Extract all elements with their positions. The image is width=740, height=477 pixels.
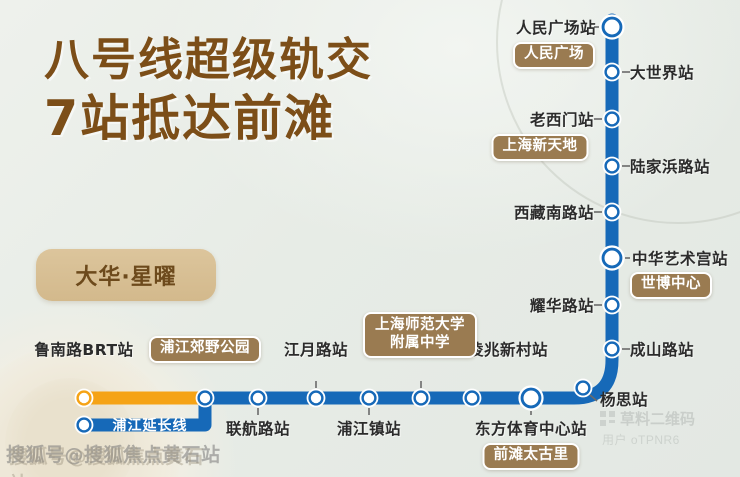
station-label: 东方体育中心站 <box>475 417 587 439</box>
station-label: 耀华路站 <box>530 294 594 316</box>
station-label: 成山路站 <box>630 338 694 360</box>
station-dot-inner <box>578 383 588 393</box>
watermark-qr-block: 草料二维码 用户 oTPNR6 <box>600 408 695 448</box>
station-dot-inner <box>607 67 617 77</box>
station-label: 中华艺术宫站 <box>632 247 728 269</box>
poi-badge: 浦江郊野公园 <box>149 336 261 363</box>
poi-badge-line: 附属中学 <box>375 335 465 353</box>
station-dot-inner <box>416 393 426 403</box>
watermark-sohu-ghost: 搜狐号@搜狐焦点黄石站 <box>9 442 221 477</box>
poi-badge: 人民广场 <box>513 42 595 69</box>
poi-badge: 世博中心 <box>630 272 712 299</box>
station-dot-inner <box>607 161 617 171</box>
branch-line-tag: 浦江延长线 <box>113 415 188 435</box>
poi-badge-line: 世博中心 <box>641 276 701 294</box>
station-label: 大世界站 <box>630 61 694 83</box>
station-dot-inner <box>79 420 89 430</box>
station-label: 江月路站 <box>284 338 348 360</box>
station-dot-inner <box>79 393 89 403</box>
station-label: 老西门站 <box>530 108 594 130</box>
station-label: 凌兆新村站 <box>468 338 548 360</box>
poi-badge: 前滩太古里 <box>483 443 580 470</box>
watermark-qr-sub: 用户 oTPNR6 <box>602 431 695 448</box>
station-label: 鲁南路BRT站 <box>34 338 133 360</box>
station-dot-inner <box>253 393 263 403</box>
poi-badge-line: 人民广场 <box>524 46 584 64</box>
station-dot-inner <box>524 391 539 406</box>
poi-badge-line: 上海新天地 <box>503 138 578 156</box>
watermark-sohu: 搜狐号@搜狐焦点黄石站 搜狐号@搜狐焦点黄石站 <box>6 440 221 467</box>
station-label: 人民广场站 <box>516 16 596 38</box>
poi-badge: 上海新天地 <box>492 134 589 161</box>
station-dot-inner <box>605 251 620 266</box>
station-dot-inner <box>364 393 374 403</box>
station-label: 杨思站 <box>600 388 648 410</box>
station-label: 联航路站 <box>226 417 290 439</box>
station-dot-inner <box>607 300 617 310</box>
poi-badge-line: 浦江郊野公园 <box>160 340 250 358</box>
station-dot-inner <box>607 114 617 124</box>
station-dot-inner <box>607 207 617 217</box>
headline-block: 八号线超级轨交 7站抵达前滩 <box>44 36 373 146</box>
qr-code-icon <box>600 411 615 426</box>
poi-badge-line: 上海师范大学 <box>375 317 465 335</box>
watermark-qr-title: 草料二维码 <box>620 408 695 429</box>
metro-line-poster: 八号线超级轨交 7站抵达前滩 大华·星曜 人民广场站大世界站老西门站陆家浜路站西… <box>0 0 740 477</box>
station-dot-inner <box>311 393 321 403</box>
headline-line-2: 7站抵达前滩 <box>44 93 373 146</box>
brand-pill: 大华·星曜 <box>36 249 216 301</box>
headline-line-1: 八号线超级轨交 <box>44 36 373 85</box>
station-label: 陆家浜路站 <box>630 155 710 177</box>
station-dot-inner <box>200 393 210 403</box>
station-label: 浦江镇站 <box>337 417 401 439</box>
station-dot-inner <box>607 344 617 354</box>
poi-badge-line: 前滩太古里 <box>494 447 569 465</box>
poi-badge: 上海师范大学附属中学 <box>363 312 477 358</box>
brand-name: 大华·星曜 <box>75 259 176 291</box>
station-dot-inner <box>605 20 620 35</box>
station-label: 西藏南路站 <box>514 201 594 223</box>
station-dot-inner <box>467 393 477 403</box>
